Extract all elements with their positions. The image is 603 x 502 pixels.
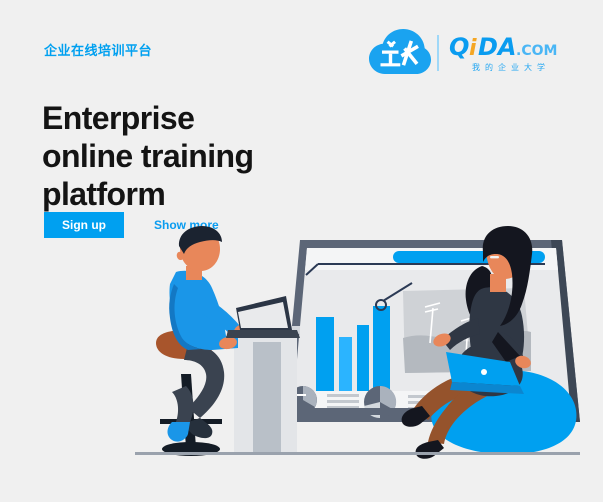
cloud-mark-icon [369, 28, 431, 78]
svg-text:DA: DA [478, 34, 517, 60]
brand-wordmark: Q i DA .COM 我的企业大学 [449, 34, 569, 73]
logo-tagline: 我的企业大学 [449, 62, 569, 73]
brand-word-qida: Q i DA .COM [449, 34, 569, 60]
headline-line-1: Enterprise [42, 99, 342, 137]
headline-line-2: online training [42, 137, 342, 175]
man-laptop-base [226, 330, 300, 338]
svg-text:.COM: .COM [516, 43, 557, 59]
headline-line-3: platform [42, 175, 342, 213]
page-title: Enterprise online training platform [42, 99, 342, 213]
woman-shoe-back [416, 440, 444, 459]
svg-text:Q: Q [449, 34, 469, 60]
desk [232, 326, 300, 452]
illustration [0, 226, 603, 476]
svg-text:i: i [469, 36, 477, 60]
brand-logo[interactable]: Q i DA .COM 我的企业大学 [369, 28, 569, 78]
text-lines-widget-1 [327, 394, 359, 409]
woman-laptop-logo [481, 369, 487, 375]
eyebrow-text: 企业在线培训平台 [44, 40, 152, 59]
logo-divider [437, 35, 439, 71]
woman-mouth [490, 256, 499, 258]
hero-banner: 企业在线培训平台 Enterprise online training plat… [0, 0, 603, 502]
ground-line [135, 452, 580, 455]
